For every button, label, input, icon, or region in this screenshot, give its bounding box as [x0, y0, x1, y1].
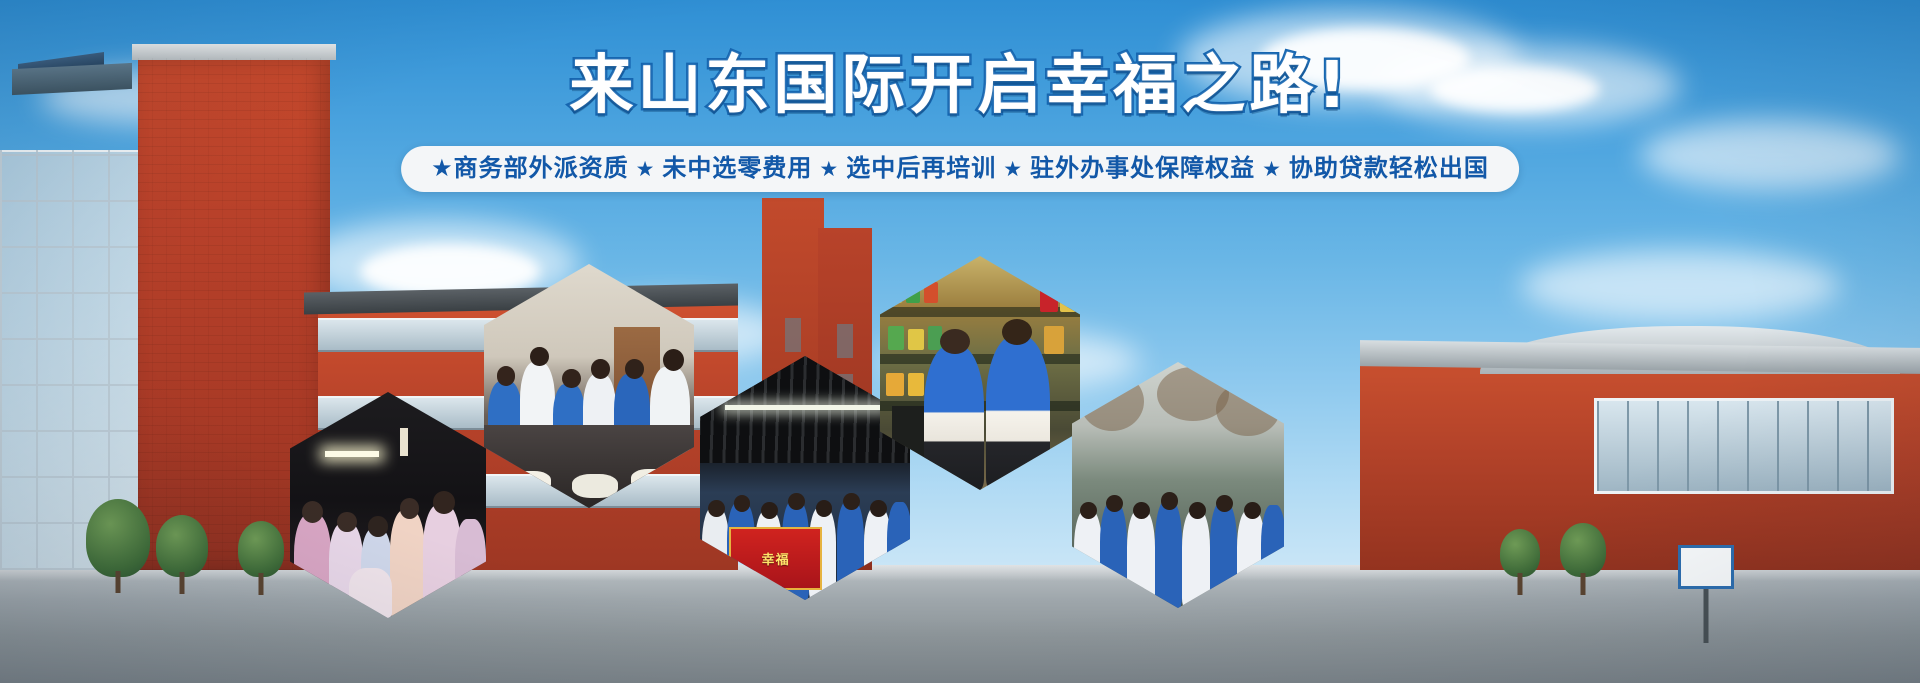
- star-icon: ★: [812, 157, 846, 181]
- page-title: 来山东国际开启幸福之路!: [0, 34, 1920, 126]
- features-pill: ★商务部外派资质★未中选零费用★选中后再培训★驻外办事处保障权益★协助贷款轻松出…: [401, 146, 1519, 192]
- tree-icon: [86, 499, 150, 577]
- building-right-block: [1360, 360, 1920, 570]
- promo-banner: 来山东国际开启幸福之路! ★商务部外派资质★未中选零费用★选中后再培训★驻外办事…: [0, 0, 1920, 683]
- star-icon: ★: [629, 157, 663, 181]
- star-icon: ★: [996, 157, 1030, 181]
- tree-icon: [156, 515, 208, 577]
- feature-item-5: 协助贷款轻松出国: [1289, 154, 1489, 182]
- feature-item-3: 选中后再培训: [846, 154, 996, 182]
- features-list: ★商务部外派资质★未中选零费用★选中后再培训★驻外办事处保障权益★协助贷款轻松出…: [431, 155, 1489, 181]
- tree-icon: [238, 521, 284, 577]
- feature-item-2: 未中选零费用: [662, 154, 812, 182]
- ground-plane: [0, 565, 1920, 683]
- cloud-icon: [1520, 250, 1840, 322]
- tree-icon: [1500, 529, 1540, 577]
- cloud-icon: [1640, 120, 1900, 190]
- star-icon: ★: [431, 154, 454, 182]
- star-icon: ★: [1255, 157, 1289, 181]
- feature-item-4: 驻外办事处保障权益: [1030, 154, 1255, 182]
- basketball-hoop-icon: [1678, 545, 1734, 589]
- feature-item-1: 商务部外派资质: [454, 154, 629, 182]
- tree-icon: [1560, 523, 1606, 577]
